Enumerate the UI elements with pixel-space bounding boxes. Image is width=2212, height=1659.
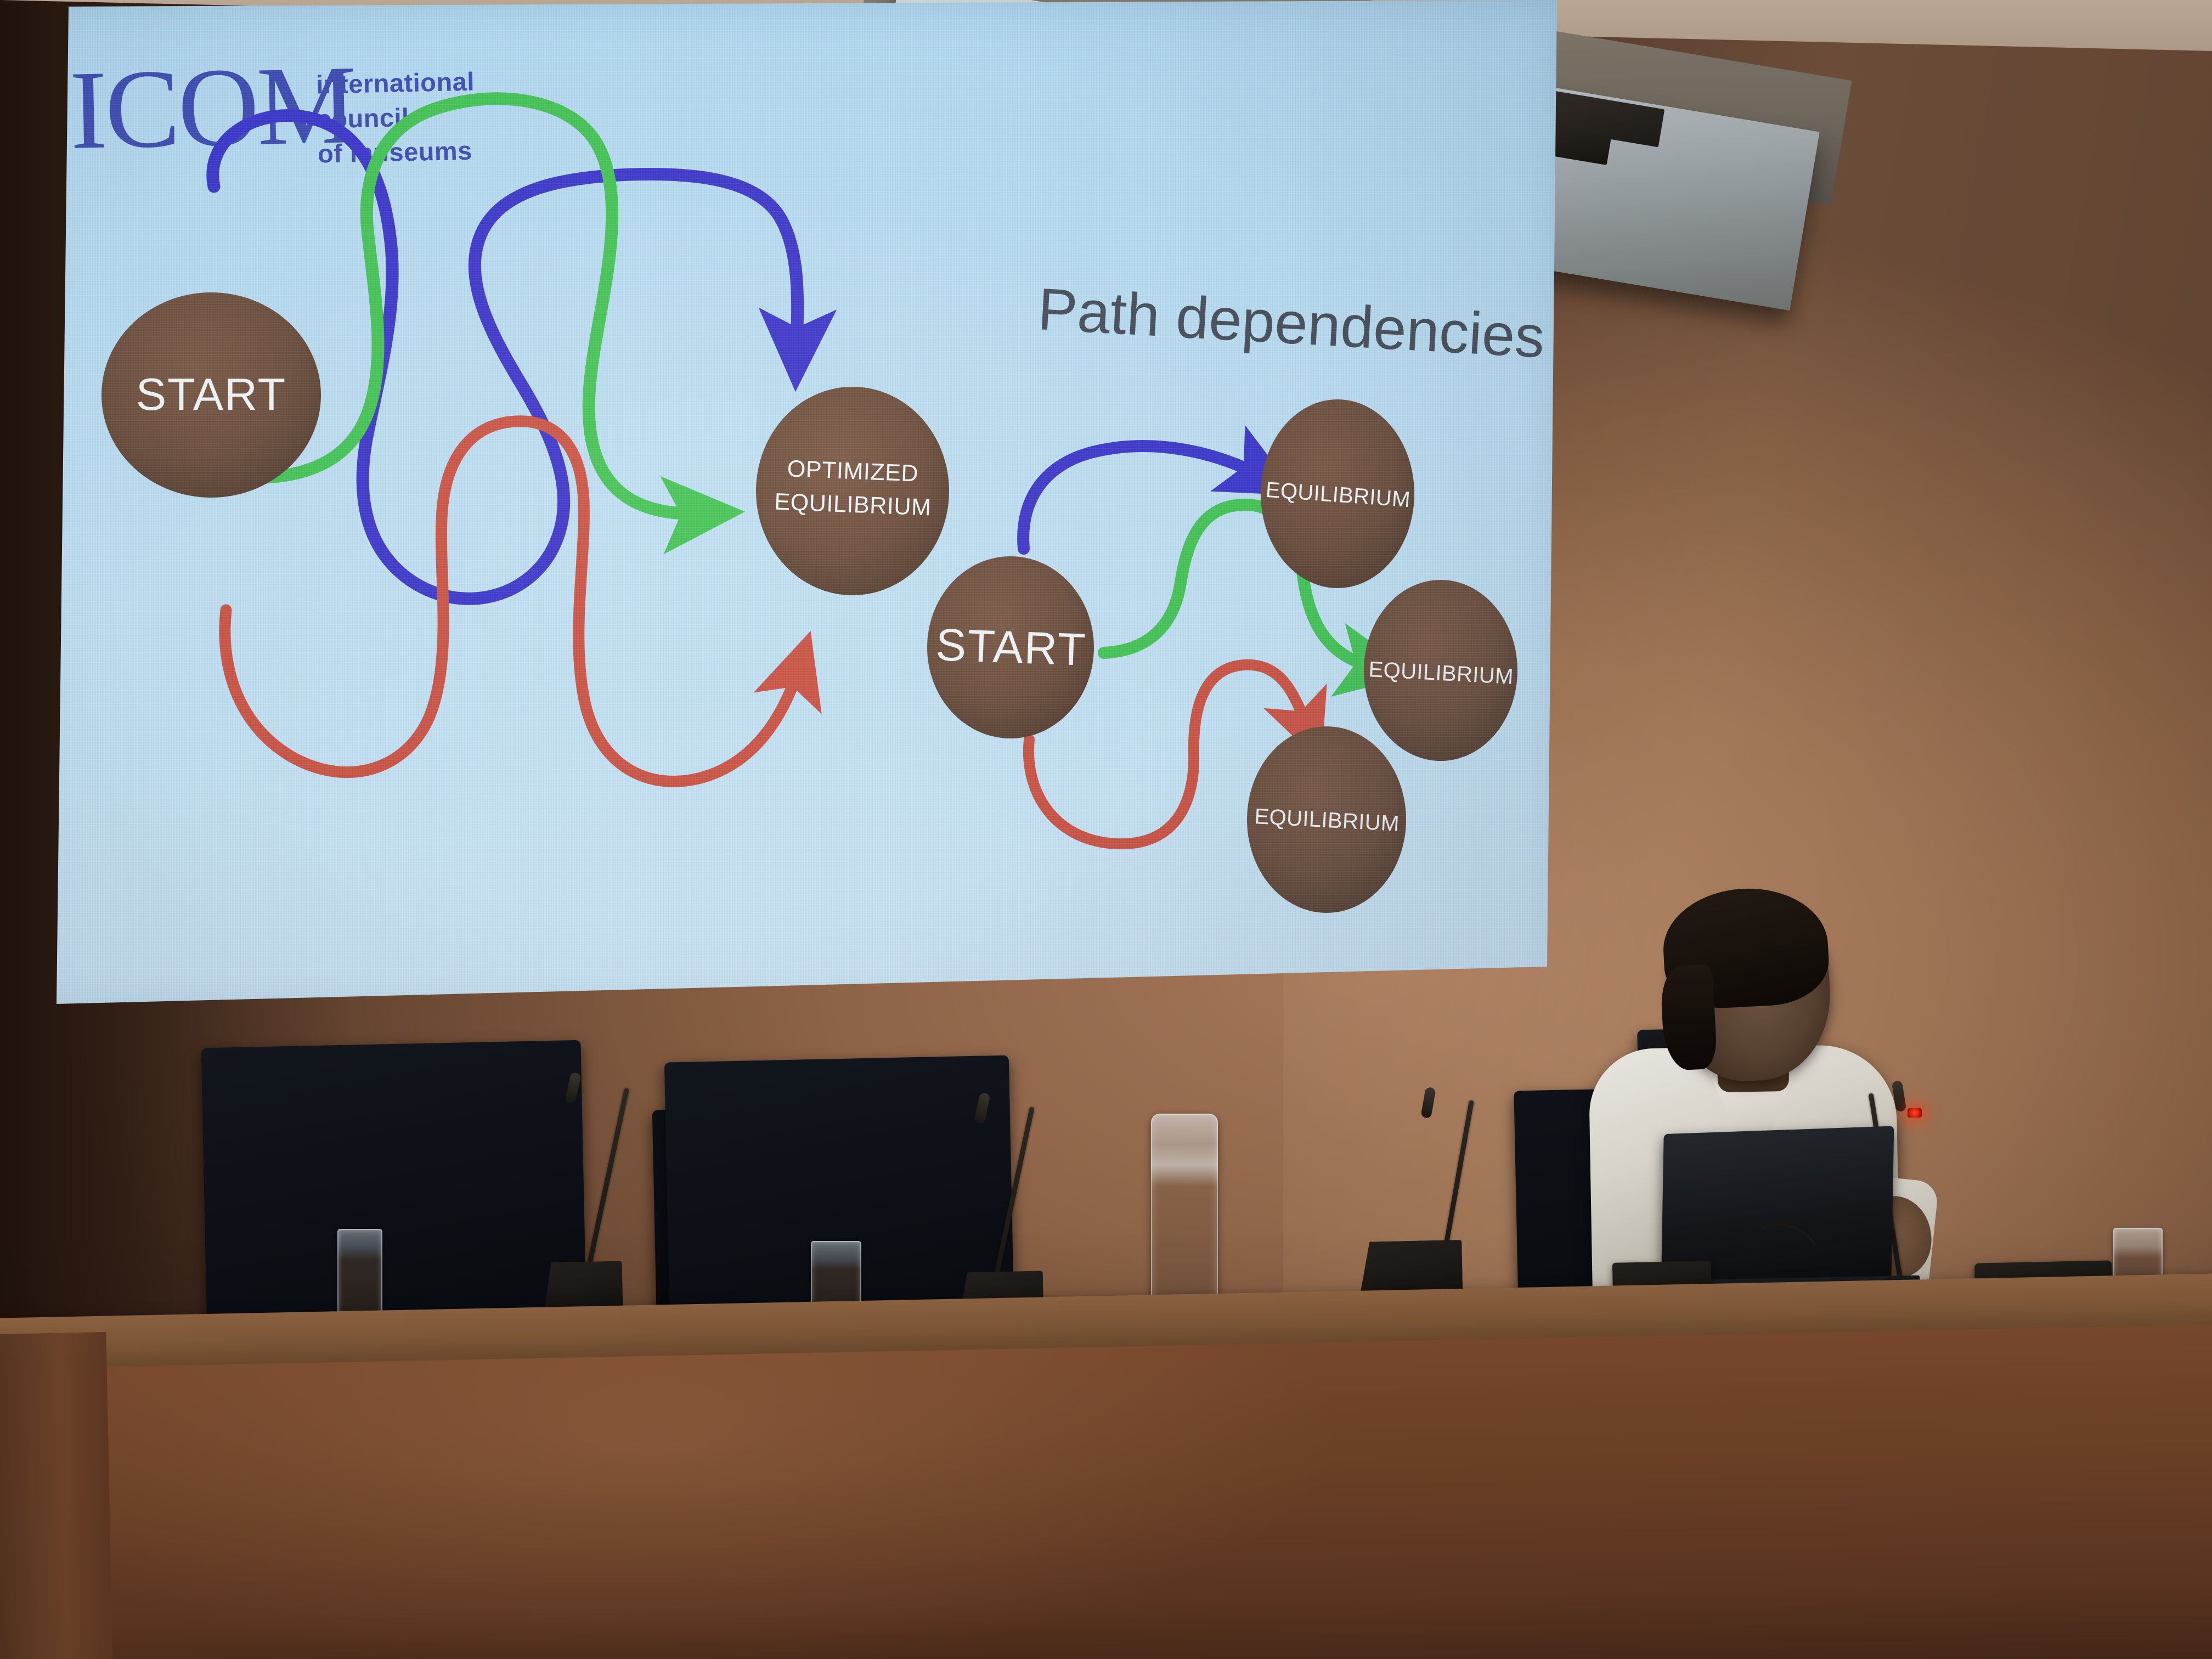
microphone-led-indicator xyxy=(1908,1108,1922,1118)
projection-screen: ICOM international council of museums Pa… xyxy=(0,0,1564,1015)
slide-title: Path dependencies xyxy=(1036,275,1547,370)
empty-chair-left xyxy=(201,1040,587,1337)
node-optimized-equilibrium-label-1: OPTIMIZED xyxy=(787,455,919,487)
node-equilibrium-middle: EQUILIBRIUM xyxy=(1364,580,1517,761)
node-start-right: START xyxy=(927,556,1094,738)
conference-room-photo: ICOM international council of museums Pa… xyxy=(0,0,2212,1659)
node-optimized-equilibrium: OPTIMIZED EQUILIBRIUM xyxy=(756,387,949,595)
node-equilibrium-top: EQUILIBRIUM xyxy=(1261,399,1414,588)
node-start-right-label: START xyxy=(935,619,1087,675)
panel-table-sheen xyxy=(0,1324,2212,1659)
slide-content: ICOM international council of museums Pa… xyxy=(0,0,1564,1015)
path-right-blue xyxy=(1023,446,1262,549)
diagram-left: START OPTIMIZED EQUILIBRIUM xyxy=(101,99,949,782)
node-start-left: START xyxy=(101,292,321,498)
node-start-left-label: START xyxy=(136,369,286,420)
node-equilibrium-bottom: EQUILIBRIUM xyxy=(1247,726,1406,913)
icom-tagline-line-1: international xyxy=(316,67,475,99)
diagram-right: START EQUILIBRIUM EQUILIBRIUM EQUILIBRIU… xyxy=(927,399,1517,913)
panel-table-left-edge xyxy=(0,1332,114,1659)
icom-logo: ICOM international council of museums xyxy=(69,40,476,173)
